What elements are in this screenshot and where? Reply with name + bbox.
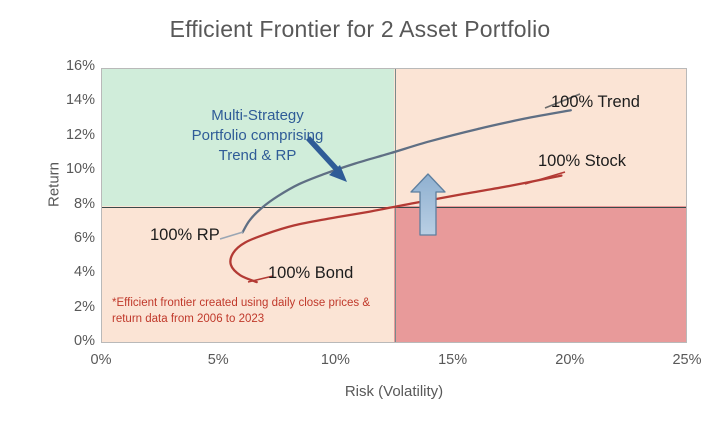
- y-tick-label: 12%: [43, 127, 95, 143]
- y-tick-label: 2%: [43, 299, 95, 315]
- x-axis-title: Risk (Volatility): [101, 383, 687, 400]
- point-label-trend: 100% Trend: [551, 93, 640, 112]
- efficient-frontier-chart: Efficient Frontier for 2 Asset Portfolio…: [0, 0, 720, 431]
- y-tick-label: 8%: [43, 196, 95, 212]
- leader-line-rp: [220, 232, 243, 239]
- callout-line-2: Portfolio comprising: [155, 126, 360, 146]
- x-tick-label: 0%: [66, 352, 136, 368]
- x-tick-label: 5%: [183, 352, 253, 368]
- leader-line-stock: [525, 172, 565, 184]
- x-tick-label: 15%: [418, 352, 488, 368]
- y-tick-label: 0%: [43, 333, 95, 349]
- chart-title: Efficient Frontier for 2 Asset Portfolio: [0, 16, 720, 43]
- multi-strategy-callout-text: Multi-Strategy Portfolio comprising Tren…: [155, 106, 360, 165]
- callout-line-3: Trend & RP: [155, 146, 360, 166]
- point-label-rp: 100% RP: [150, 226, 220, 245]
- y-tick-label: 10%: [43, 161, 95, 177]
- footnote-text: *Efficient frontier created using daily …: [112, 296, 402, 328]
- x-tick-label: 10%: [300, 352, 370, 368]
- y-tick-label: 6%: [43, 230, 95, 246]
- point-label-stock: 100% Stock: [538, 152, 626, 171]
- improvement-up-arrow-icon: [411, 174, 445, 235]
- x-tick-label: 20%: [535, 352, 605, 368]
- point-label-bond: 100% Bond: [268, 264, 353, 283]
- y-tick-label: 16%: [43, 58, 95, 74]
- x-tick-label: 25%: [652, 352, 720, 368]
- y-tick-label: 14%: [43, 92, 95, 108]
- x-axis-tick-labels: 0%5%10%15%20%25%: [0, 352, 720, 376]
- y-tick-label: 4%: [43, 264, 95, 280]
- callout-line-1: Multi-Strategy: [155, 106, 360, 126]
